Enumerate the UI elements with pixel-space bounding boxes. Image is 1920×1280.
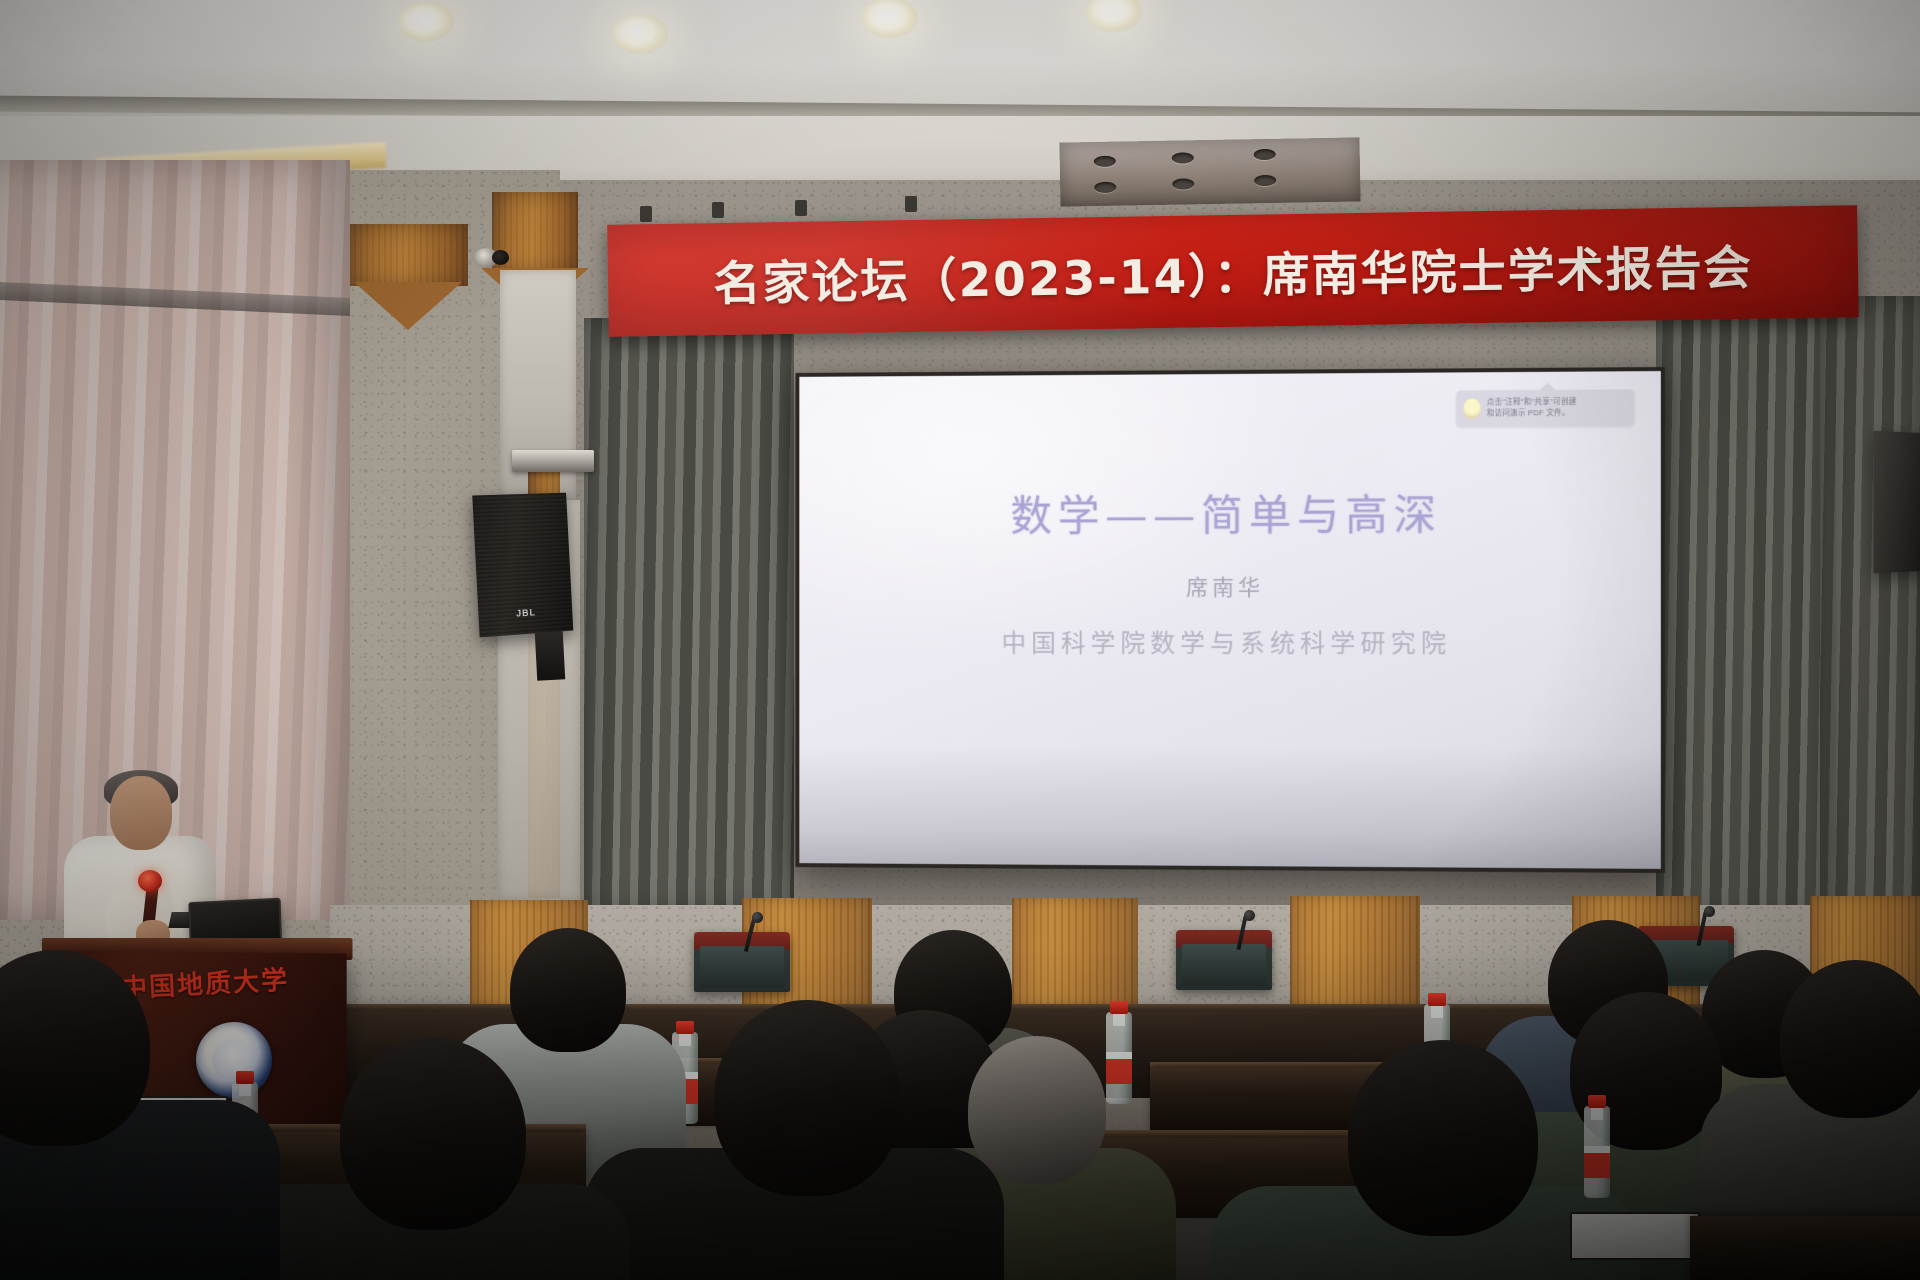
lecture-hall-photo: 名家论坛（2023-14）：席南华院士学术报告会 JBL 点击"注释"和"共享"…: [0, 0, 1920, 1280]
stage-curtain-far-right: [1820, 296, 1920, 936]
speaker-brand-label: JBL: [478, 605, 572, 621]
stage-chair: [694, 932, 790, 992]
tooltip-text: 点击"注释"和"共享"可创建 和访问演示 PDF 文件。: [1487, 397, 1577, 419]
banner-clip: [640, 206, 652, 222]
screen-shadow: [799, 745, 1660, 869]
slide-title: 数学——简单与高深: [799, 480, 1660, 544]
wall-panel-notch: [354, 282, 462, 330]
wall-pilaster: [348, 224, 468, 286]
audience-head: [968, 1036, 1106, 1184]
stage-chair: [1176, 930, 1272, 990]
ceiling-air-duct: [1059, 137, 1360, 206]
desk-microphone-head: [752, 912, 763, 923]
presentation-tooltip[interactable]: 点击"注释"和"共享"可创建 和访问演示 PDF 文件。: [1456, 389, 1634, 426]
audience-head: [1348, 1040, 1538, 1236]
projection-screen-frame: 点击"注释"和"共享"可创建 和访问演示 PDF 文件。 数学——简单与高深 席…: [795, 367, 1664, 873]
banner-clip: [795, 200, 807, 216]
tooltip-line-2: 和访问演示 PDF 文件。: [1487, 408, 1570, 418]
audience-head: [1780, 960, 1920, 1118]
water-bottle: [1584, 1106, 1610, 1198]
security-camera-lens-icon: [492, 250, 509, 265]
water-bottle: [1106, 1012, 1132, 1104]
lightbulb-icon: [1463, 398, 1480, 418]
presenter-head: [110, 776, 172, 850]
event-banner: 名家论坛（2023-14）：席南华院士学术报告会: [607, 205, 1859, 337]
audience-head: [510, 928, 626, 1052]
banner-clip: [712, 202, 724, 218]
wall-speaker: JBL: [472, 493, 573, 638]
ceiling-downlight: [398, 2, 454, 42]
stage-curtain-left: [584, 318, 794, 918]
stage-curtain-right: [1656, 300, 1836, 930]
desk-microphone-head: [1704, 906, 1715, 917]
audience-head: [340, 1038, 526, 1230]
microphone-head-icon: [138, 870, 162, 892]
audience-desk: [1690, 1216, 1920, 1280]
audience-head: [714, 1000, 900, 1196]
ceiling-downlight: [612, 14, 668, 54]
tooltip-line-1: 点击"注释"和"共享"可创建: [1487, 397, 1577, 407]
banner-clip: [905, 196, 917, 212]
desk-microphone-head: [1244, 910, 1255, 921]
tablet-device[interactable]: [1570, 1212, 1700, 1260]
wall-speaker-right: [1874, 431, 1920, 573]
speaker-mount-shelf: [512, 450, 594, 472]
banner-title: 名家论坛（2023-14）：席南华院士学术报告会: [713, 228, 1753, 313]
slide-affiliation: 中国科学院数学与系统科学研究院: [799, 624, 1660, 661]
slide-author: 席南华: [799, 569, 1660, 602]
projection-screen[interactable]: 点击"注释"和"共享"可创建 和访问演示 PDF 文件。 数学——简单与高深 席…: [799, 371, 1660, 869]
speaker-bracket: [535, 631, 565, 680]
